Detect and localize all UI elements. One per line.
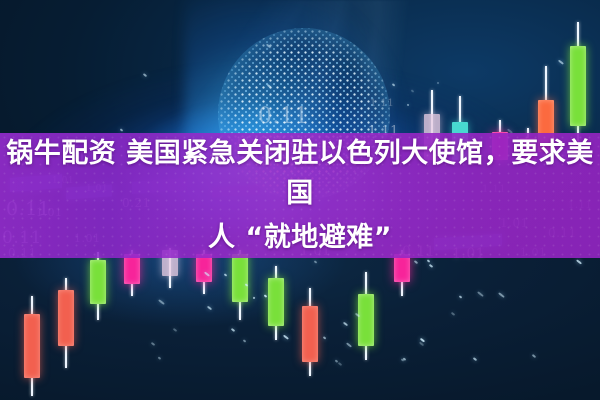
numeric-label: 0.11 [258,104,309,129]
headline-text-block: 锅牛配资 美国紧急关闭驻以色列大使馆，要求美国 人 “就地避难” [0,133,600,258]
numeric-label: 1.11 [370,98,394,109]
headline-line-2: 人 “就地避难” [202,218,398,258]
headline-line-1: 锅牛配资 美国紧急关闭驻以色列大使馆，要求美国 [0,134,600,214]
news-banner-image: 0.110.211.111.110.110.110.111.011.011.01… [0,0,600,400]
